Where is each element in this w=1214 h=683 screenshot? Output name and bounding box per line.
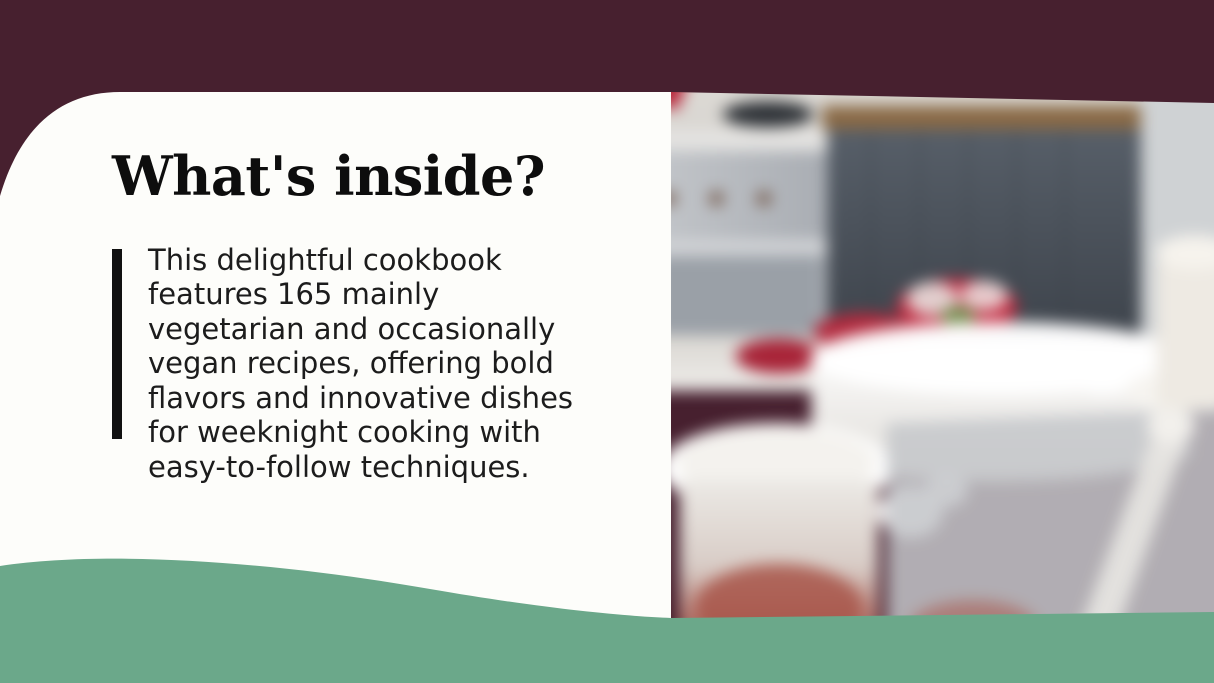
slide-content: What's inside? This delightful cookbook …: [112, 148, 612, 484]
slide-canvas: What's inside? This delightful cookbook …: [0, 0, 1214, 683]
body-paragraph: This delightful cookbook features 165 ma…: [148, 243, 588, 485]
page-title: What's inside?: [112, 148, 612, 205]
green-band-right-shape: [671, 612, 1214, 683]
body-block: This delightful cookbook features 165 ma…: [112, 243, 612, 485]
accent-bar: [112, 249, 122, 439]
